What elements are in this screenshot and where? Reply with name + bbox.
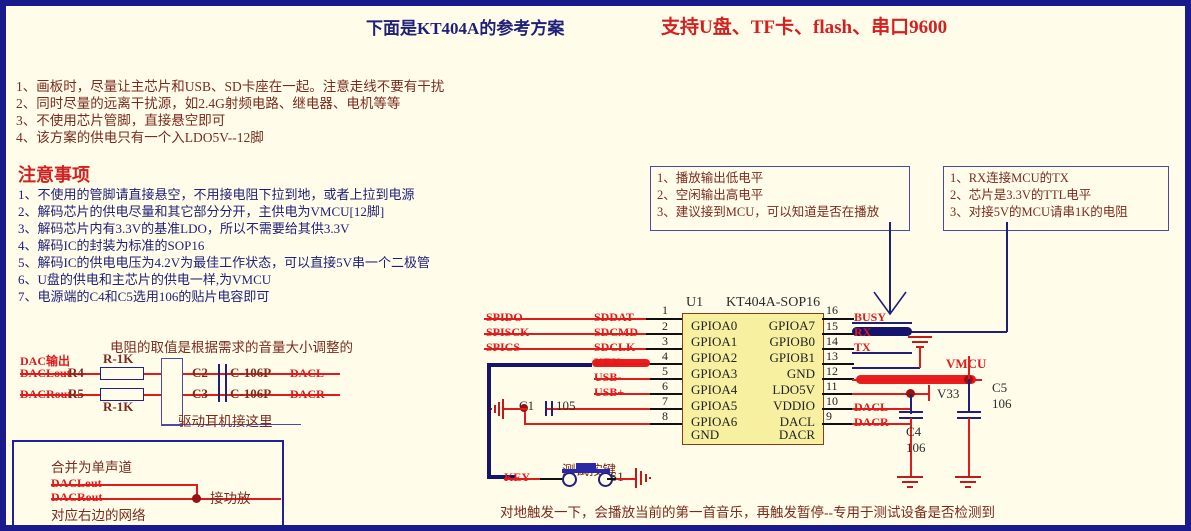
ref-c5: C5 [992, 380, 1007, 396]
net-label-dacr: DACR [854, 415, 889, 430]
chip-pin-name: GPIOB0 [769, 334, 815, 350]
annotation-busy-line: 3、建议接到MCU，可以知道是否在播放 [657, 204, 903, 221]
ground-icon [906, 334, 934, 352]
cautions-heading: 注意事项 [18, 161, 90, 187]
ref-c4: C4 [906, 424, 921, 440]
net-label-sdclk: SDCLK [594, 340, 635, 355]
caution-line: 6、U盘的供电和主芯片的供电一样,为VMCU [18, 271, 488, 288]
pin-number: 11 [826, 379, 838, 394]
value-c2: C-106P [230, 365, 271, 381]
pin-number: 2 [662, 319, 668, 334]
ground-icon [632, 467, 652, 489]
switch-actuator-cap[interactable] [576, 463, 596, 471]
annotation-rx-line: 1、RX连接MCU的TX [950, 170, 1162, 187]
ref-c2: C2 [192, 365, 208, 381]
net-label-spics: SPICS [486, 340, 520, 355]
chip-pin-name: GPIOA7 [769, 318, 815, 334]
caution-line: 1、不使用的管脚请直接悬空，不用接电阻下拉到地，或者上拉到电源 [18, 186, 488, 203]
chip-pin-name: VDDIO [773, 398, 815, 414]
mono-wire-top [51, 484, 197, 486]
net-label-sddat: SDDAT [594, 310, 634, 325]
cap-c1-plate-b [551, 401, 553, 416]
top-note-line: 1、画板时，尽量让主芯片和USB、SD卡座在一起。注意走线不要有干扰 [16, 78, 576, 95]
pin-number: 6 [662, 379, 668, 394]
junction-dot [192, 494, 201, 503]
pin-number: 15 [826, 319, 838, 334]
caution-line: 7、电源端的C4和C5选用106的贴片电容即可 [18, 288, 488, 305]
top-notes: 1、画板时，尽量让主芯片和USB、SD卡座在一起。注意走线不要有干扰 2、同时尽… [16, 78, 576, 146]
value-c1: 105 [556, 398, 576, 414]
pin-number: 7 [662, 394, 668, 409]
net-label-rx: RX [854, 325, 871, 340]
top-note-line: 3、不使用芯片管脚，直接悬空即可 [16, 112, 576, 129]
key-route-vertical [487, 363, 491, 479]
cap-c2c3-plate-a [218, 364, 220, 402]
v33-tick [928, 385, 930, 401]
top-note-line: 4、该方案的供电只有一个入LDO5V--12脚 [16, 129, 576, 146]
ref-s1: S1 [610, 469, 624, 485]
ref-c3: C3 [192, 386, 208, 402]
page-subtitle: 支持U盘、TF卡、flash、串口9600 [661, 12, 947, 39]
caution-line: 2、解码芯片的供电尽量和其它部分分开，主供电为VMCU[12脚] [18, 203, 488, 220]
switch-wire-left [540, 478, 564, 480]
net-dacl-left: DACL [290, 366, 324, 381]
chip-pin-name: GPIOB1 [769, 350, 815, 366]
net-dacr-left: DACR [290, 387, 325, 402]
pin-number: 8 [662, 409, 668, 424]
pin-number: 1 [662, 303, 668, 318]
net-wire-v33 [852, 393, 928, 395]
value-r4: R-1K [103, 351, 133, 367]
pin-number: 10 [826, 394, 838, 409]
key-route-top [487, 363, 592, 367]
pin-number: 4 [662, 349, 668, 364]
dac-caption: 电阻的取值是根据需求的音量大小调整的 [110, 336, 353, 356]
ground-icon [954, 474, 982, 492]
net-label-spido: SPIDO [486, 310, 523, 325]
annotation-rx-line: 3、对接5V的MCU请串1K的电阻 [950, 204, 1162, 221]
annotation-rx-leader-v [1006, 222, 1008, 332]
annotation-rx-line: 2、芯片是3.3V的TTL电平 [950, 187, 1162, 204]
net-daclout: DACLout [20, 366, 71, 381]
cap-c2c3-plate-b [225, 364, 227, 402]
chip-body-u1: GPIOA0 GPIOA1 GPIOA2 GPIOA3 GPIOA4 GPIOA… [682, 313, 824, 445]
c5-lead-bottom [968, 418, 970, 476]
vmcu-riser [968, 356, 970, 380]
net-label-key: KEY [594, 355, 620, 370]
pin-number: 16 [826, 303, 838, 318]
top-note-line: 2、同时尽量的远离干扰源，如2.4G射频电路、继电器、电机等等 [16, 95, 576, 112]
schematic-canvas: 下面是KT404A的参考方案 支持U盘、TF卡、flash、串口9600 1、画… [6, 6, 1185, 525]
chip-part-number: KT404A-SOP16 [726, 295, 820, 311]
annotation-busy-line: 1、播放输出低电平 [657, 170, 903, 187]
ref-r4: R4 [68, 365, 84, 381]
headphone-note: 驱动耳机接这里 [178, 410, 273, 430]
net-wire-left [524, 423, 650, 425]
chip-pin-name: GPIOA1 [691, 334, 737, 350]
switch-terminal-left[interactable] [562, 472, 577, 487]
resistor-r4-body [100, 367, 144, 380]
pin-number: 14 [826, 334, 838, 349]
net-wire-gnd13 [852, 367, 920, 369]
cap-c4-plate-a [899, 411, 923, 413]
annotation-busy-line: 2、空闲输出高电平 [657, 187, 903, 204]
net-label-usb-minus: USB- [594, 370, 621, 385]
page-title: 下面是KT404A的参考方案 [366, 14, 564, 39]
ground-icon [896, 474, 924, 492]
chip-pin-name: GPIOA3 [691, 366, 737, 382]
mono-title: 合并为单声道 [51, 456, 132, 476]
chip-designator: U1 [686, 295, 703, 311]
schematic-page: 下面是KT404A的参考方案 支持U盘、TF卡、flash、串口9600 1、画… [0, 0, 1191, 531]
pin-number: 5 [662, 364, 668, 379]
chip-pin-name: GPIOA2 [691, 350, 737, 366]
chip-pin-name: GPIOA0 [691, 318, 737, 334]
chip-pin-name: GND [691, 427, 719, 443]
chip-pin-name: DACR [779, 427, 815, 443]
c5-lead-top [968, 379, 970, 413]
ref-r5: R5 [68, 386, 84, 402]
caution-line: 3、解码芯片内有3.3V的基准LDO，所以不需要给其供3.3V [18, 220, 488, 237]
net-label-vmcu: VMCU [946, 356, 986, 372]
chip-pin-name: GPIOA5 [691, 398, 737, 414]
footer-note: 对地触发一下，会播放当前的第一首音乐，再触发暂停--专用于测试设备是否检测到 [500, 501, 995, 521]
net-dacrout: DACRout [20, 387, 71, 402]
cap-c5-plate-a [957, 411, 981, 413]
chip-pin-name: GND [787, 366, 815, 382]
ground-icon [490, 398, 510, 420]
pin-number: 13 [826, 349, 838, 364]
caution-line: 5、解码IC的供电电压为4.2V为最佳工作状态，可以直接5V串一个二极管 [18, 254, 488, 271]
net-label-usb-plus: USB+ [594, 385, 624, 400]
net-label-dacl: DACL [854, 400, 888, 415]
mono-footer: 对应右边的网络 [51, 504, 146, 524]
annotation-busy-box: 1、播放输出低电平 2、空闲输出高电平 3、建议接到MCU，可以知道是否在播放 [650, 166, 910, 231]
cautions-list: 1、不使用的管脚请直接悬空，不用接电阻下拉到地，或者上拉到电源 2、解码芯片的供… [18, 186, 488, 305]
chip-pin-name: GPIOA4 [691, 382, 737, 398]
caution-line: 4、解码IC的封装为标准的SOP16 [18, 237, 488, 254]
value-r5: R-1K [103, 399, 133, 415]
value-c5: 106 [992, 396, 1012, 412]
mono-amp-label: 接功放 [210, 487, 251, 507]
value-c3: C-106P [230, 386, 271, 402]
net-label-tx: TX [854, 340, 871, 355]
pin-number: 12 [826, 364, 838, 379]
annotation-rx-box: 1、RX连接MCU的TX 2、芯片是3.3V的TTL电平 3、对接5V的MCU请… [943, 166, 1169, 231]
net-wire-vmcu [852, 379, 982, 381]
net-label-busy: BUSY [854, 310, 886, 325]
switch-wire-left-red [504, 478, 542, 480]
pin-number: 3 [662, 334, 668, 349]
chip-pin-name: LDO5V [772, 382, 815, 398]
net-label-sdcmd: SDCMD [594, 325, 638, 340]
value-c4: 106 [906, 440, 926, 456]
cap-c1-plate-a [545, 401, 547, 416]
net-label-spisck: SPISCK [486, 325, 529, 340]
label-v33: V33 [937, 386, 959, 402]
pin-number: 9 [826, 409, 832, 424]
